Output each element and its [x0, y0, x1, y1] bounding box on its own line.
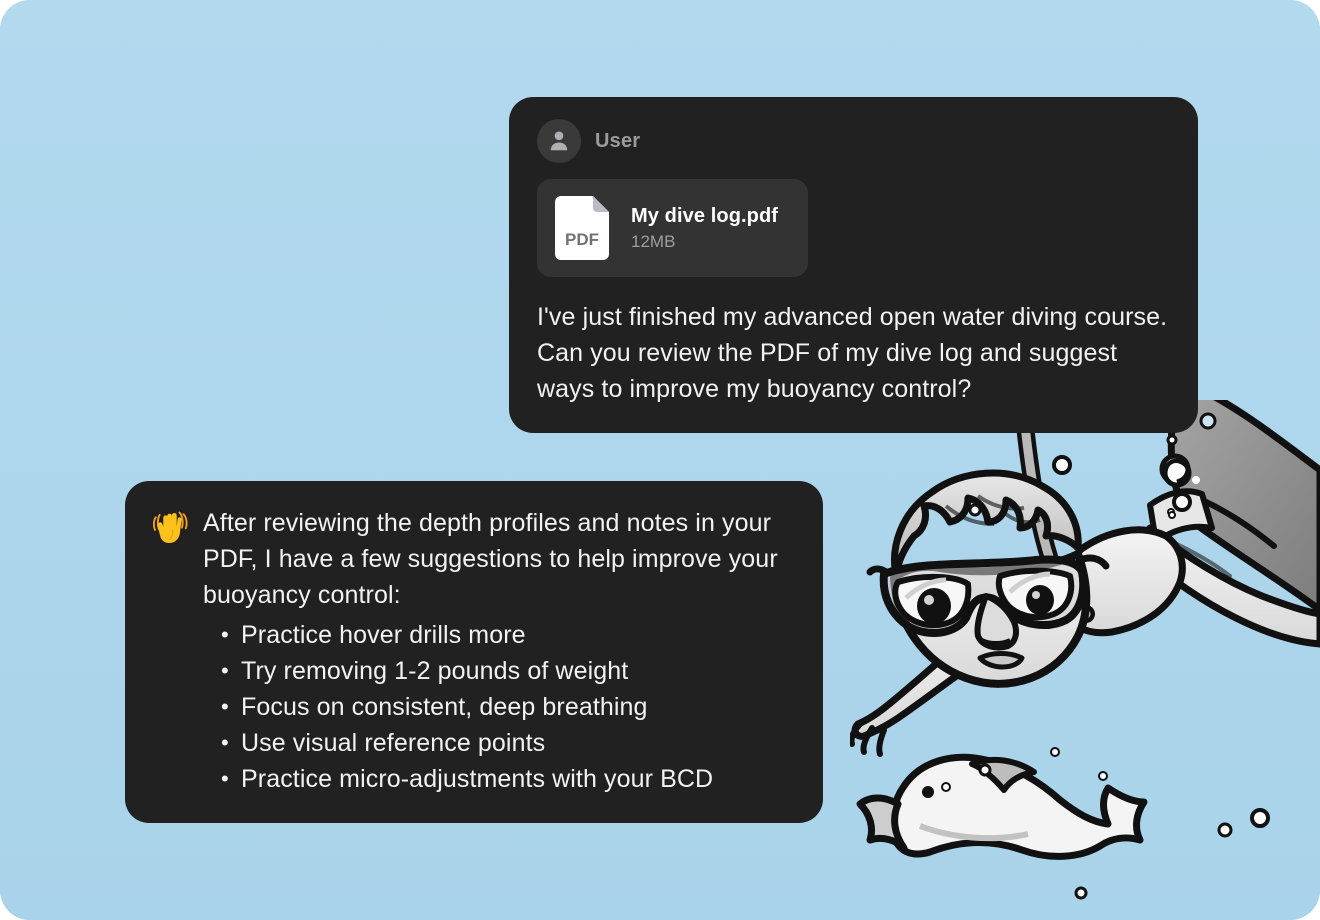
waving-hand-emoji — [151, 507, 189, 545]
assistant-message-body: After reviewing the depth profiles and n… — [203, 505, 793, 797]
pdf-file-name: My dive log.pdf — [631, 205, 778, 228]
pdf-file-meta: My dive log.pdf 12MB — [631, 205, 778, 252]
user-message-bubble: User PDF My dive log.pdf 12MB I've just … — [509, 97, 1198, 433]
assistant-message-row: After reviewing the depth profiles and n… — [151, 505, 793, 797]
user-message-text: I've just finished my advanced open wate… — [537, 299, 1170, 407]
pdf-file-size: 12MB — [631, 232, 778, 252]
list-item: Practice hover drills more — [241, 617, 793, 653]
assistant-suggestion-list: Practice hover drills more Try removing … — [203, 617, 793, 797]
list-item: Focus on consistent, deep breathing — [241, 689, 793, 725]
screenshot-canvas: User PDF My dive log.pdf 12MB I've just … — [0, 0, 1320, 920]
person-avatar-icon — [537, 119, 581, 163]
user-message-header: User — [537, 119, 1170, 163]
user-author-label: User — [595, 130, 640, 153]
list-item: Use visual reference points — [241, 725, 793, 761]
assistant-intro-text: After reviewing the depth profiles and n… — [203, 505, 793, 613]
assistant-message-bubble: After reviewing the depth profiles and n… — [125, 481, 823, 823]
pdf-file-icon: PDF — [555, 193, 613, 263]
list-item: Try removing 1-2 pounds of weight — [241, 653, 793, 689]
pdf-icon-label: PDF — [565, 230, 599, 249]
pdf-attachment-card[interactable]: PDF My dive log.pdf 12MB — [537, 179, 808, 277]
list-item: Practice micro-adjustments with your BCD — [241, 761, 793, 797]
